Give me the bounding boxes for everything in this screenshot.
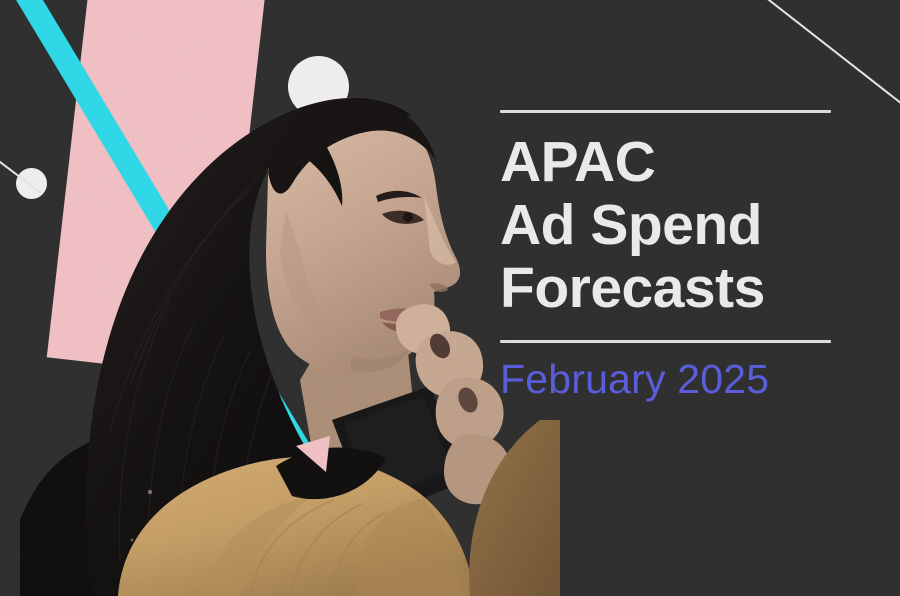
diagonal-hairline-right — [759, 0, 900, 126]
title-text-block: APAC Ad Spend Forecasts February 2025 — [500, 110, 832, 403]
presentation-slide: APAC Ad Spend Forecasts February 2025 — [0, 0, 900, 596]
portrait-photo — [0, 0, 560, 596]
page-title: APAC Ad Spend Forecasts — [500, 113, 832, 320]
subtitle-date: February 2025 — [500, 343, 832, 403]
